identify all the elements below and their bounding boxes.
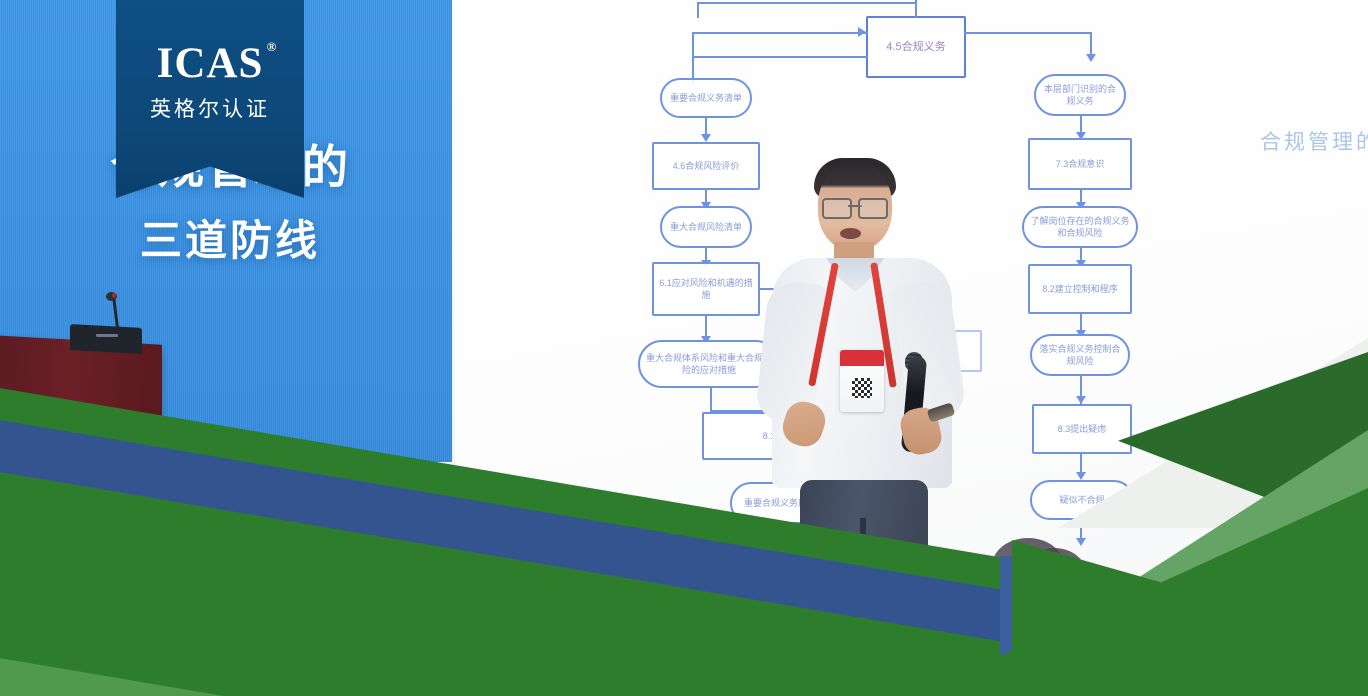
flow-node-top-center: 4.5合规义务 (866, 16, 966, 78)
flow-node-r4: 8.2建立控制和程序 (1028, 264, 1132, 314)
flow-node-l2: 4.6合规风险评价 (652, 142, 760, 190)
connector (692, 56, 868, 58)
arrow-icon (1076, 472, 1086, 480)
speaker-mouth (840, 228, 861, 239)
conference-photo: 合规管理的 三道防线 合规管理的三道防线 4.5合规义务 重要合规义务清单 (0, 0, 1368, 696)
flow-node-l1: 重要合规义务清单 (660, 78, 752, 118)
arrow-icon (1076, 538, 1086, 546)
flow-node-r7: 疑似不合规 (1030, 480, 1134, 520)
screenshot-stage: 合规管理的 三道防线 合规管理的三道防线 4.5合规义务 重要合规义务清单 (0, 0, 1368, 696)
flow-node-l4: 6.1应对风险和机遇的措施 (652, 262, 760, 316)
flow-node-r2: 7.3合规意识 (1028, 138, 1132, 190)
wall-title-line1: 合规管理的 (100, 131, 360, 197)
connector (697, 2, 917, 4)
glasses-icon (822, 198, 888, 215)
arrow-icon (1076, 396, 1086, 404)
connector (710, 388, 712, 412)
audience-head (618, 534, 690, 590)
podium-microphone-indicator (112, 293, 116, 298)
speaker-figure (760, 158, 980, 613)
flow-node-r5: 落实合规义务控制合规风险 (1030, 334, 1130, 376)
trouser-seam (860, 518, 866, 640)
arrow-icon (701, 134, 711, 142)
podium-monitor (70, 324, 142, 354)
connector (964, 32, 1092, 34)
connector (692, 32, 868, 34)
flow-node-l3: 重大合规风险清单 (660, 206, 752, 248)
audience-head (1022, 548, 1086, 598)
wall-title-line2: 三道防线 (96, 207, 364, 268)
flow-node-r6: 8.3提出疑虑 (1032, 404, 1132, 454)
qr-code-icon (852, 378, 872, 398)
arrow-icon (1086, 54, 1096, 62)
name-badge (840, 350, 884, 412)
flowchart-title: 合规管理的三道防线 (1260, 126, 1368, 156)
podium-led-strip (96, 334, 118, 337)
flow-node-r3: 了解岗位存在的合规义务和合规风险 (1022, 206, 1138, 248)
audience-head (742, 556, 816, 614)
badge-header (840, 350, 884, 366)
connector (697, 2, 699, 18)
flow-node-r1: 本层部门识别的合规义务 (1034, 74, 1126, 116)
arrow-icon (858, 27, 866, 37)
